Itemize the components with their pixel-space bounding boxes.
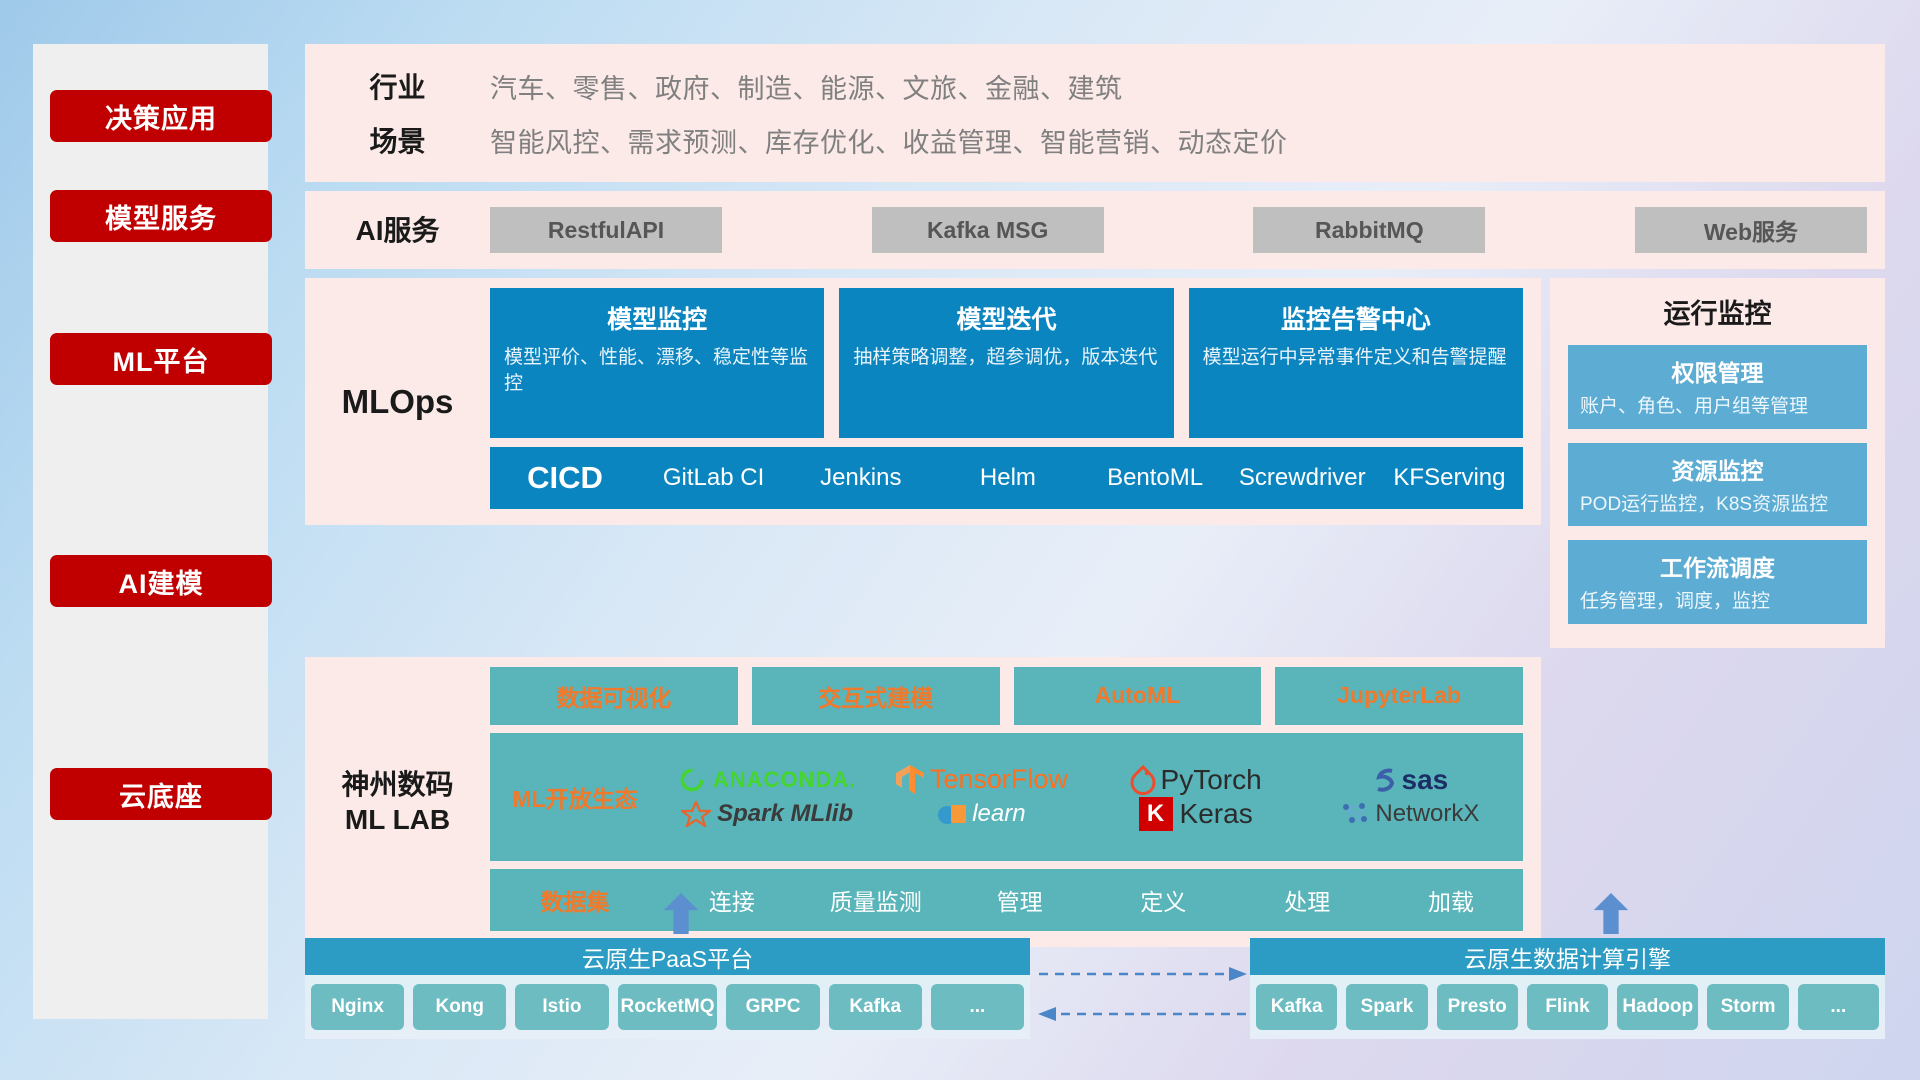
keras-icon: K: [1139, 797, 1173, 831]
card-title: 监控告警中心: [1203, 300, 1509, 336]
service-chip-web[interactable]: Web服务: [1635, 207, 1867, 253]
card-title: 工作流调度: [1580, 549, 1855, 583]
tool-chip-jupyterlab[interactable]: JupyterLab: [1275, 667, 1523, 725]
row-ml-platform: MLOps 模型监控 模型评价、性能、漂移、稳定性等监控 模型迭代 抽样策略调整…: [305, 278, 1885, 648]
paas-chip-nginx[interactable]: Nginx: [311, 984, 404, 1030]
spark-mllib-label: Spark MLlib: [717, 800, 853, 828]
networkx-icon: [1340, 800, 1370, 828]
cicd-title: CICD: [490, 460, 640, 496]
engine-chip-flink[interactable]: Flink: [1527, 984, 1608, 1030]
tool-chip-interactive-modeling[interactable]: 交互式建模: [752, 667, 1000, 725]
paas-chip-kong[interactable]: Kong: [413, 984, 506, 1030]
tensorflow-logo[interactable]: TensorFlow: [895, 764, 1068, 796]
scikit-learn-label: learn: [972, 800, 1025, 828]
cloud-base-zone: 云原生PaaS平台 Nginx Kong Istio RocketMQ GRPC…: [305, 900, 1885, 1045]
mlops-card-model-iteration[interactable]: 模型迭代 抽样策略调整，超参调优，版本迭代: [839, 288, 1173, 438]
cloud-data-engine-title: 云原生数据计算引擎: [1250, 938, 1885, 975]
cicd-item-screwdriver[interactable]: Screwdriver: [1229, 465, 1376, 490]
ml-open-ecosystem-label: ML开放生态: [490, 780, 660, 814]
scenario-label: 场景: [305, 120, 490, 160]
mlops-label: MLOps: [305, 278, 490, 525]
card-desc: 任务管理，调度，监控: [1580, 589, 1855, 615]
tensorflow-label: TensorFlow: [930, 764, 1068, 795]
engine-chip-presto[interactable]: Presto: [1437, 984, 1518, 1030]
monitor-card-resource[interactable]: 资源监控 POD运行监控，K8S资源监控: [1568, 443, 1867, 527]
ai-service-label: AI服务: [305, 213, 490, 248]
arrow-up-paas-icon: [660, 892, 702, 934]
engine-chip-kafka[interactable]: Kafka: [1256, 984, 1337, 1030]
ml-lab-tool-strip: 数据可视化 交互式建模 AutoML JupyterLab: [490, 667, 1523, 725]
stage-pill-ml-platform[interactable]: ML平台: [50, 333, 272, 385]
stage-pill-decision[interactable]: 决策应用: [50, 90, 272, 142]
stage-pill-cloud-base[interactable]: 云底座: [50, 768, 272, 820]
ml-lab-label-line2: ML LAB: [345, 802, 450, 837]
cicd-item-jenkins[interactable]: Jenkins: [787, 465, 934, 490]
engine-chip-hadoop[interactable]: Hadoop: [1617, 984, 1698, 1030]
stage-pill-ai-modeling[interactable]: AI建模: [50, 555, 272, 607]
tool-chip-automl[interactable]: AutoML: [1014, 667, 1262, 725]
scikit-learn-icon: [937, 801, 967, 827]
arrow-up-data-engine-icon: [1590, 892, 1632, 934]
paas-chip-istio[interactable]: Istio: [515, 984, 608, 1030]
tensorflow-icon: [895, 764, 925, 796]
card-desc: POD运行监控，K8S资源监控: [1580, 492, 1855, 518]
band-mlops: MLOps 模型监控 模型评价、性能、漂移、稳定性等监控 模型迭代 抽样策略调整…: [305, 278, 1541, 525]
sas-label: sas: [1402, 764, 1449, 796]
cloud-paas-column: 云原生PaaS平台 Nginx Kong Istio RocketMQ GRPC…: [305, 938, 1030, 1039]
card-desc: 账户、角色、用户组等管理: [1580, 394, 1855, 420]
panel-runtime-monitoring: 运行监控 权限管理 账户、角色、用户组等管理 资源监控 POD运行监控，K8S资…: [1550, 278, 1885, 648]
cloud-paas-title: 云原生PaaS平台: [305, 938, 1030, 975]
runtime-monitoring-title: 运行监控: [1568, 292, 1867, 331]
card-title: 权限管理: [1580, 354, 1855, 388]
cloud-data-engine-chip-row: Kafka Spark Presto Flink Hadoop Storm ..…: [1250, 975, 1885, 1039]
pytorch-logo[interactable]: PyTorch: [1130, 764, 1262, 796]
ai-service-chip-strip: RestfulAPI Kafka MSG RabbitMQ Web服务: [490, 207, 1885, 253]
paas-chip-kafka[interactable]: Kafka: [829, 984, 922, 1030]
card-title: 模型迭代: [853, 300, 1159, 336]
row-industry: 行业 汽车、零售、政府、制造、能源、文旅、金融、建筑: [305, 66, 1885, 106]
engine-chip-storm[interactable]: Storm: [1707, 984, 1788, 1030]
engine-chip-more[interactable]: ...: [1798, 984, 1879, 1030]
sas-logo[interactable]: sas: [1372, 764, 1449, 796]
cicd-bar: CICD GitLab CI Jenkins Helm BentoML Scre…: [490, 447, 1523, 509]
scikit-learn-logo[interactable]: learn: [937, 800, 1025, 828]
service-chip-kafka-msg[interactable]: Kafka MSG: [872, 207, 1104, 253]
mlops-card-model-monitoring[interactable]: 模型监控 模型评价、性能、漂移、稳定性等监控: [490, 288, 824, 438]
sas-icon: [1372, 766, 1398, 794]
anaconda-logo[interactable]: ANACONDA.: [678, 766, 856, 794]
anaconda-icon: [678, 766, 706, 794]
spark-mllib-logo[interactable]: Spark MLlib: [681, 800, 853, 828]
networkx-label: NetworkX: [1375, 800, 1479, 828]
bidirectional-dashed-connector: [1035, 960, 1250, 1030]
row-scenario: 场景 智能风控、需求预测、库存优化、收益管理、智能营销、动态定价: [305, 120, 1885, 160]
keras-logo[interactable]: K Keras: [1139, 797, 1253, 831]
cicd-item-helm[interactable]: Helm: [934, 465, 1081, 490]
cloud-data-engine-column: 云原生数据计算引擎 Kafka Spark Presto Flink Hadoo…: [1250, 938, 1885, 1039]
card-title: 资源监控: [1580, 452, 1855, 486]
service-chip-restfulapi[interactable]: RestfulAPI: [490, 207, 722, 253]
mlops-card-alert-center[interactable]: 监控告警中心 模型运行中异常事件定义和告警提醒: [1189, 288, 1523, 438]
cicd-item-gitlab-ci[interactable]: GitLab CI: [640, 465, 787, 490]
card-desc: 模型评价、性能、漂移、稳定性等监控: [504, 345, 810, 396]
industry-value: 汽车、零售、政府、制造、能源、文旅、金融、建筑: [490, 67, 1123, 106]
cicd-item-kfserving[interactable]: KFServing: [1376, 465, 1523, 490]
cloud-paas-chip-row: Nginx Kong Istio RocketMQ GRPC Kafka ...: [305, 975, 1030, 1039]
paas-chip-more[interactable]: ...: [931, 984, 1024, 1030]
band-ai-services: AI服务 RestfulAPI Kafka MSG RabbitMQ Web服务: [305, 191, 1885, 269]
monitor-card-workflow[interactable]: 工作流调度 任务管理，调度，监控: [1568, 540, 1867, 624]
networkx-logo[interactable]: NetworkX: [1340, 800, 1479, 828]
architecture-main: 行业 汽车、零售、政府、制造、能源、文旅、金融、建筑 场景 智能风控、需求预测、…: [305, 44, 1885, 947]
card-desc: 抽样策略调整，超参调优，版本迭代: [853, 345, 1159, 371]
pytorch-icon: [1130, 765, 1156, 795]
industry-label: 行业: [305, 66, 490, 106]
anaconda-label: ANACONDA.: [713, 767, 856, 793]
pytorch-label: PyTorch: [1161, 764, 1262, 796]
spark-star-icon: [681, 801, 711, 827]
mlops-card-row: 模型监控 模型评价、性能、漂移、稳定性等监控 模型迭代 抽样策略调整，超参调优，…: [490, 278, 1541, 438]
engine-chip-spark[interactable]: Spark: [1346, 984, 1427, 1030]
ml-open-ecosystem-row: ML开放生态 ANACONDA. TensorFlow: [490, 733, 1523, 861]
paas-chip-grpc[interactable]: GRPC: [726, 984, 819, 1030]
cicd-item-bentoml[interactable]: BentoML: [1082, 465, 1229, 490]
ecosystem-logo-grid: ANACONDA. TensorFlow: [660, 763, 1517, 831]
card-desc: 模型运行中异常事件定义和告警提醒: [1203, 345, 1509, 371]
keras-label: Keras: [1180, 798, 1253, 830]
card-title: 模型监控: [504, 300, 810, 336]
tool-chip-data-visualization[interactable]: 数据可视化: [490, 667, 738, 725]
monitor-card-permission[interactable]: 权限管理 账户、角色、用户组等管理: [1568, 345, 1867, 429]
scenario-value: 智能风控、需求预测、库存优化、收益管理、智能营销、动态定价: [490, 121, 1288, 160]
ml-lab-label-line1: 神州数码: [341, 767, 453, 802]
stage-pill-model-svc[interactable]: 模型服务: [50, 190, 272, 242]
paas-chip-rocketmq[interactable]: RocketMQ: [618, 984, 718, 1030]
service-chip-rabbitmq[interactable]: RabbitMQ: [1253, 207, 1485, 253]
band-decision-applications: 行业 汽车、零售、政府、制造、能源、文旅、金融、建筑 场景 智能风控、需求预测、…: [305, 44, 1885, 182]
